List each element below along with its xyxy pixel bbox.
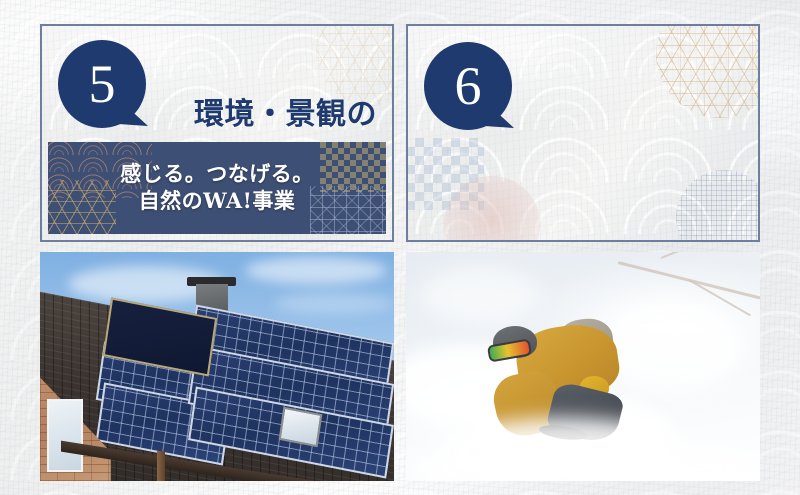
card-5-banner: 感じる。つなげる。 自然のWA!事業 xyxy=(48,142,386,234)
house-window xyxy=(47,399,83,472)
card-6: 6 その他 市長が必要と 認める事業 xyxy=(406,24,760,242)
cloud xyxy=(274,293,394,314)
photo-solar-roof xyxy=(40,252,394,481)
badge-5-number: 5 xyxy=(58,40,146,128)
photo-snowboarder xyxy=(406,252,760,481)
card-5-banner-text: 感じる。つなげる。 自然のWA!事業 xyxy=(48,142,386,234)
badge-5: 5 xyxy=(58,40,154,136)
downpipe xyxy=(157,451,165,481)
banner-line2: 自然のWA!事業 xyxy=(139,188,296,215)
cloud xyxy=(245,257,387,284)
card-5: 5 環境・景観の 保護保全と活用 感じる。つなげる。 自然のWA!事業 xyxy=(40,24,394,242)
badge-6-number: 6 xyxy=(424,42,512,130)
content-wrapper: 5 環境・景観の 保護保全と活用 感じる。つなげる。 自然のWA!事業 xyxy=(0,0,800,495)
badge-6: 6 xyxy=(424,42,520,138)
card-5-heading-line1: 環境・景観の xyxy=(194,97,377,132)
banner-line1: 感じる。つなげる。 xyxy=(120,161,314,188)
